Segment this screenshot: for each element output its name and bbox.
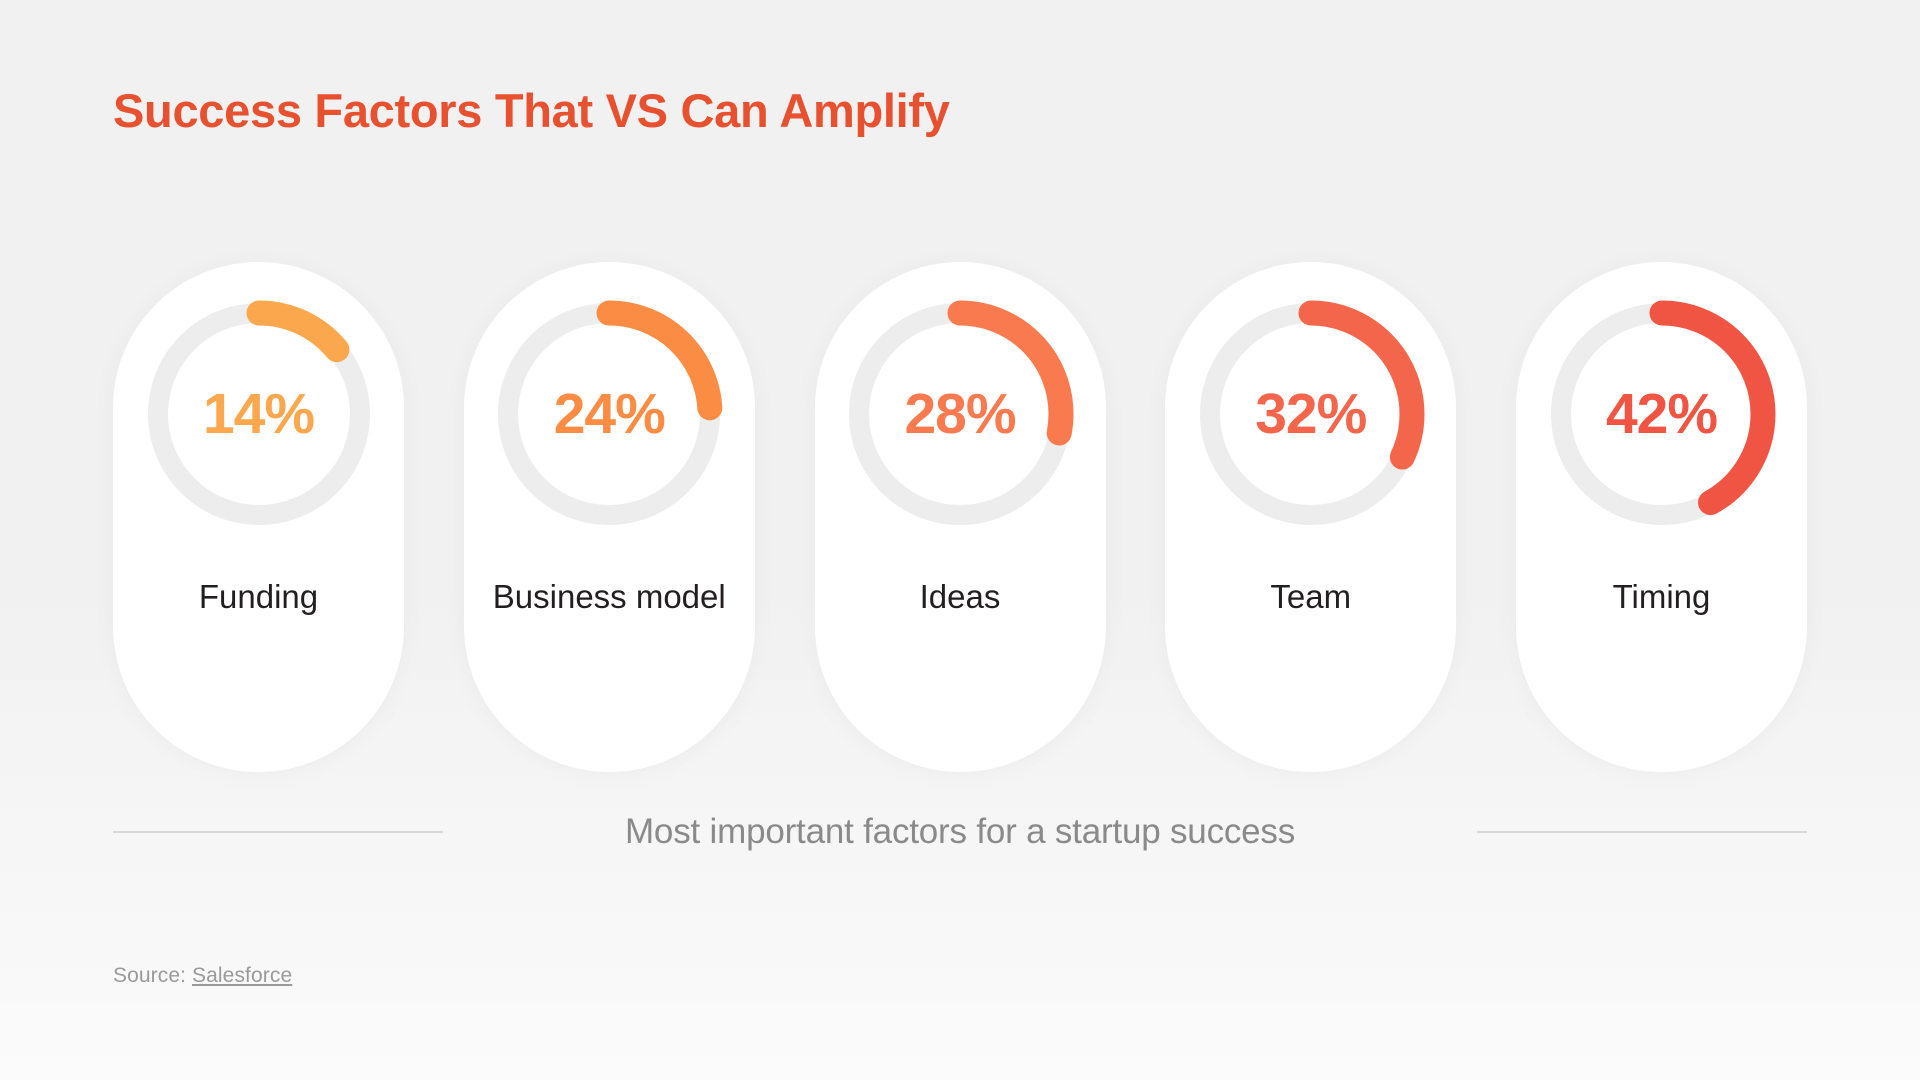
gauge-card[interactable]: 28%Ideas (815, 262, 1106, 772)
gauge-card-row: 14%Funding24%Business model28%Ideas32%Te… (113, 262, 1807, 772)
gauge-card-label: Business model (491, 577, 727, 617)
gauge-card[interactable]: 14%Funding (113, 262, 404, 772)
caption-text: Most important factors for a startup suc… (443, 812, 1477, 852)
gauge-card-label: Ideas (842, 577, 1078, 617)
page-title: Success Factors That VS Can Amplify (113, 83, 950, 138)
gauge-value-label: 24% (490, 295, 728, 533)
caption-rule-right (1477, 831, 1807, 833)
gauge-card-label: Team (1193, 577, 1429, 617)
donut-gauge: 14% (140, 295, 378, 533)
gauge-card[interactable]: 42%Timing (1516, 262, 1807, 772)
caption-row: Most important factors for a startup suc… (113, 812, 1807, 852)
gauge-card-label: Funding (141, 577, 377, 617)
source-prefix: Source: (113, 964, 192, 987)
donut-gauge: 28% (841, 295, 1079, 533)
gauge-card[interactable]: 24%Business model (464, 262, 755, 772)
gauge-card[interactable]: 32%Team (1165, 262, 1456, 772)
gauge-value-label: 14% (140, 295, 378, 533)
gauge-value-label: 32% (1192, 295, 1430, 533)
gauge-card-label: Timing (1544, 577, 1780, 617)
caption-rule-left (113, 831, 443, 833)
source-link[interactable]: Salesforce (192, 964, 292, 987)
donut-gauge: 42% (1543, 295, 1781, 533)
donut-gauge: 24% (490, 295, 728, 533)
source-attribution: Source: Salesforce (113, 964, 292, 988)
donut-gauge: 32% (1192, 295, 1430, 533)
gauge-value-label: 42% (1543, 295, 1781, 533)
infographic-slide: Success Factors That VS Can Amplify 14%F… (0, 0, 1920, 1080)
gauge-value-label: 28% (841, 295, 1079, 533)
